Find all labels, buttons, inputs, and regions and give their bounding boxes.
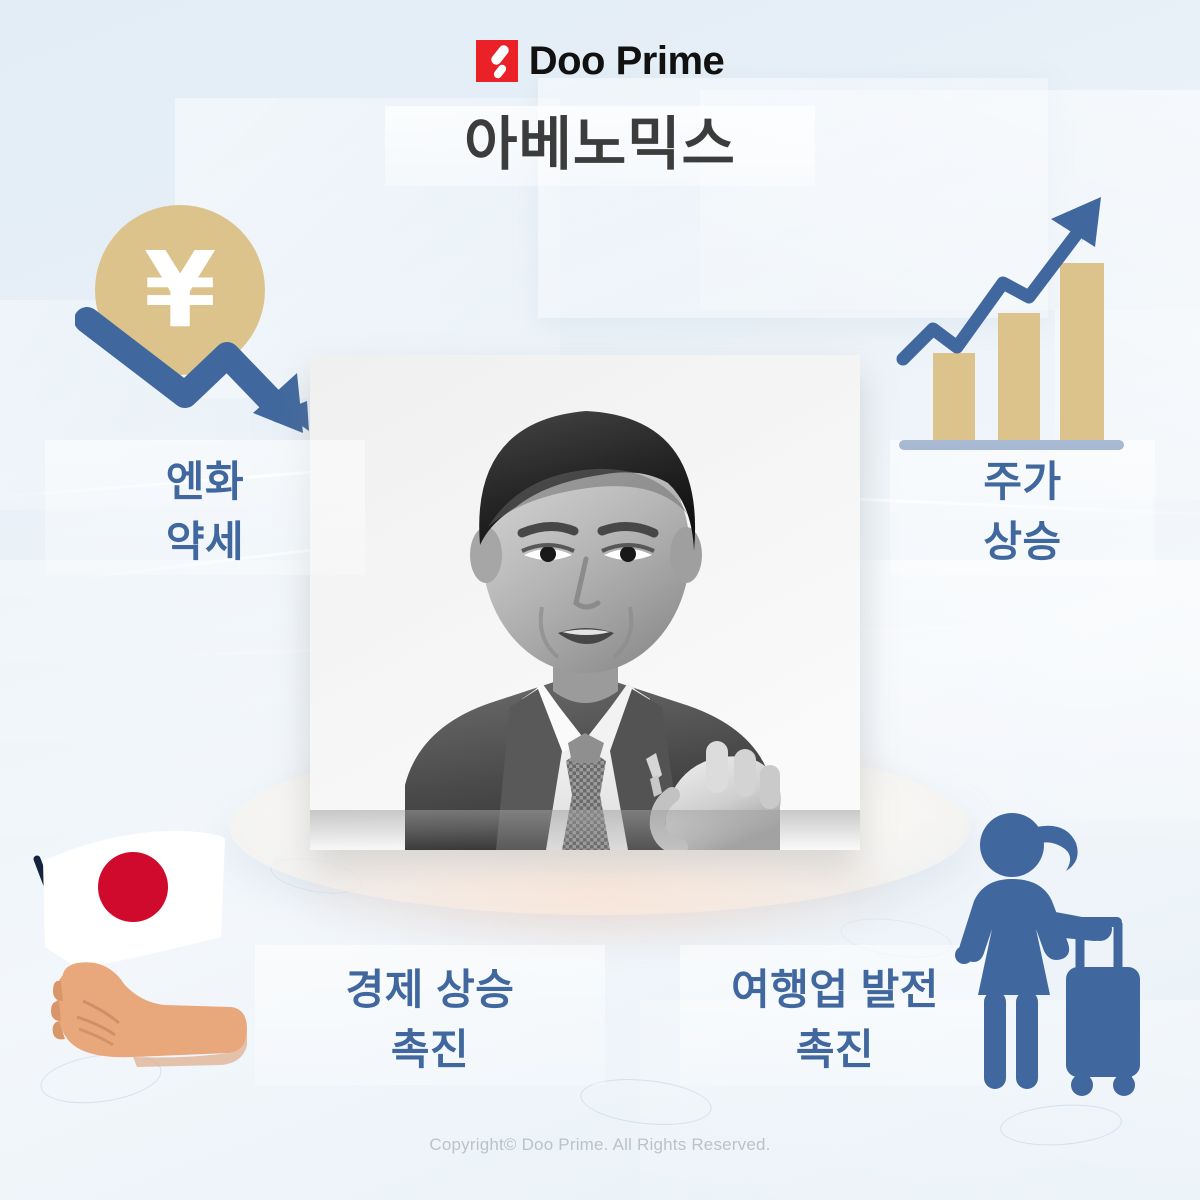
brand-name-text: Doo Prime xyxy=(529,39,725,83)
callout-line: 엔화 xyxy=(45,452,365,512)
fist xyxy=(62,962,130,1043)
brand-name: Doo Prime xyxy=(529,41,725,81)
declining-arrow-shape xyxy=(75,205,340,440)
suitcase xyxy=(1066,967,1140,1077)
doo-prime-logo-icon xyxy=(476,40,518,82)
rising-bar-chart-icon xyxy=(895,185,1140,450)
callout-line: 상승 xyxy=(890,512,1155,572)
brand-logo: Doo Prime xyxy=(0,40,1200,82)
infographic-canvas: Doo Prime 아베노믹스 ¥ xyxy=(0,0,1200,1200)
callout-line: 주가 xyxy=(890,452,1155,512)
page-title: 아베노믹스 xyxy=(0,112,1200,179)
pedestal-warm-light xyxy=(300,840,900,950)
traveler-leg xyxy=(984,991,1006,1089)
callout-label-stock-rise: 주가 상승 xyxy=(890,452,1155,571)
callout-label-economy-boost: 경제 상승 촉진 xyxy=(255,960,605,1079)
callout-line: 약세 xyxy=(45,512,365,572)
bar-3 xyxy=(1060,263,1104,440)
traveler-body xyxy=(959,879,1069,995)
footer-copyright: Copyright© Doo Prime. All Rights Reserve… xyxy=(0,1135,1200,1155)
traveler-leg xyxy=(1016,991,1038,1089)
japan-flag-sun xyxy=(98,852,168,922)
shinzo-abe-portrait-photo xyxy=(310,355,860,850)
callout-label-yen-weakness: 엔화 약세 xyxy=(45,452,365,571)
yen-declining-arrow-icon: ¥ xyxy=(75,205,340,440)
bar-2 xyxy=(998,313,1040,440)
background-panel xyxy=(880,560,1200,820)
traveler-head xyxy=(980,813,1044,877)
callout-line: 촉진 xyxy=(255,1020,605,1080)
callout-line: 경제 상승 xyxy=(255,960,605,1020)
hand-holding-japan-flag-icon xyxy=(15,815,255,1115)
female-traveler-with-suitcase-icon xyxy=(930,805,1150,1100)
bar-1 xyxy=(933,353,975,440)
